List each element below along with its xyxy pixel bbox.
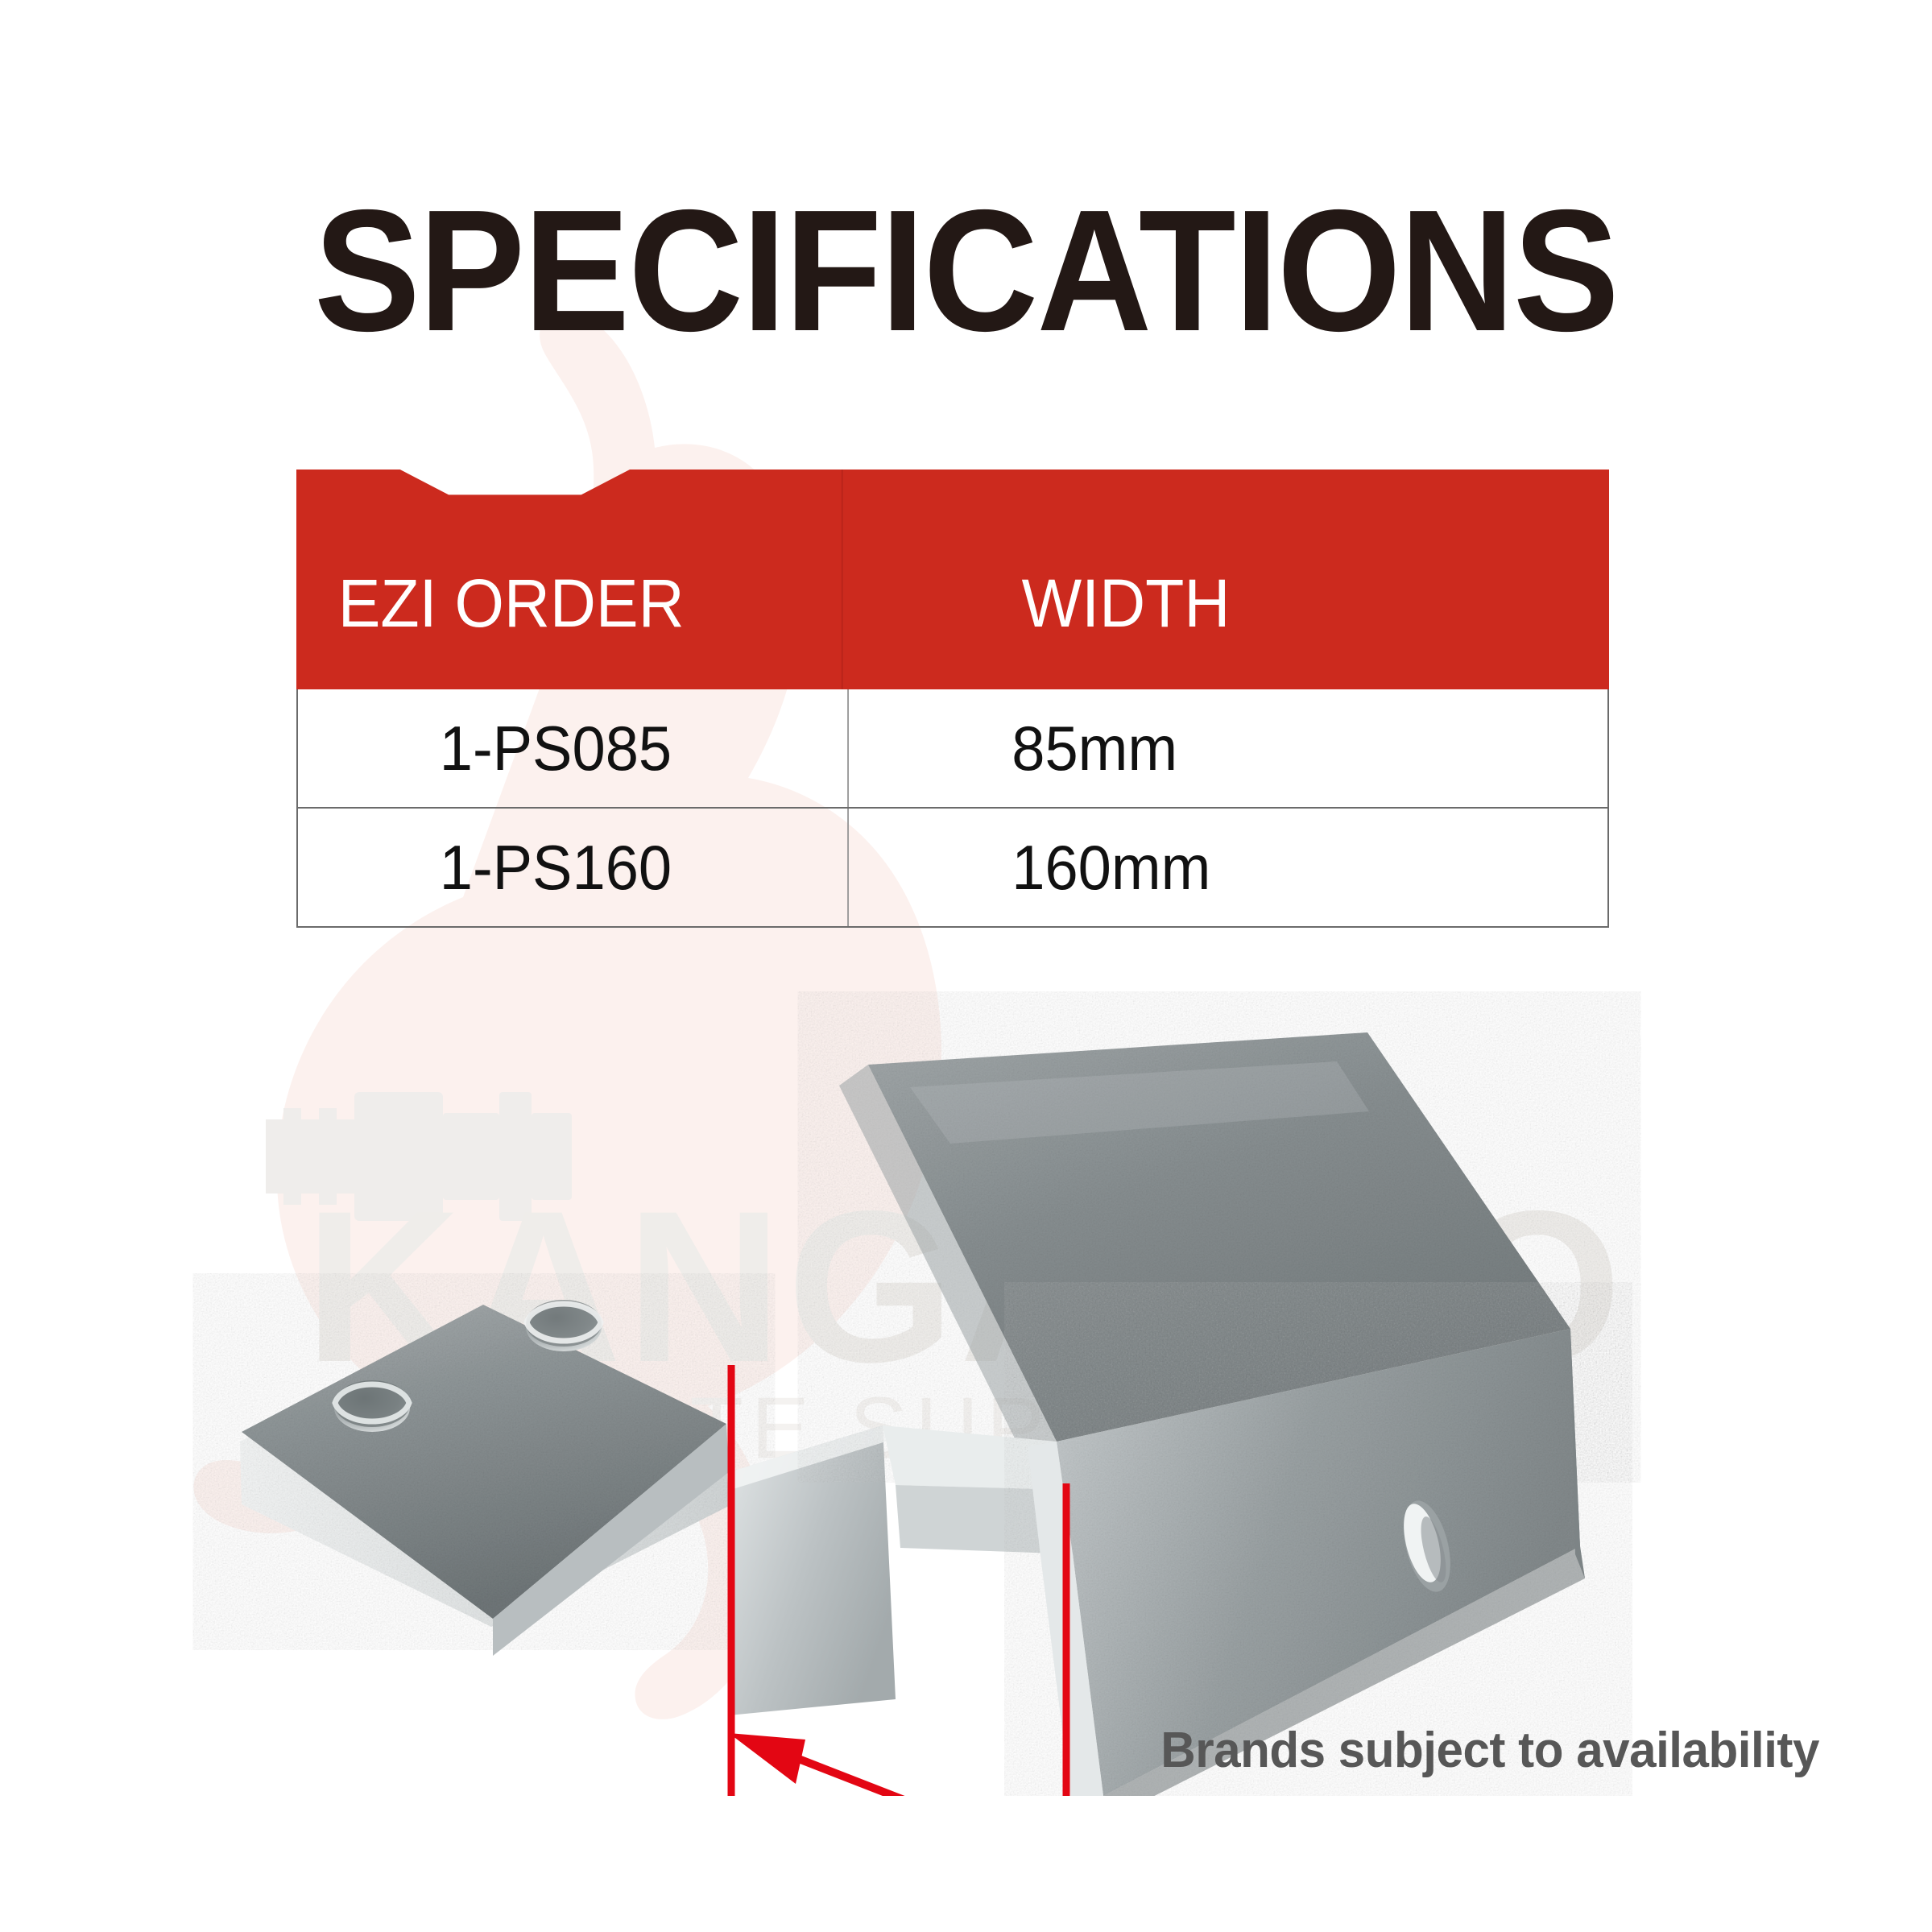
table-row: 1-PS085 85mm bbox=[298, 689, 1607, 807]
product-photo: width bbox=[0, 991, 1932, 1796]
table-body: 1-PS085 85mm 1-PS160 160mm bbox=[296, 689, 1609, 928]
availability-note: Brands subject to availability bbox=[1160, 1722, 1819, 1779]
specification-page: KANGAROO SITE SUPPLIES SPECIFICATIONS EZ… bbox=[0, 0, 1932, 1932]
column-header-ezi-order: EZI ORDER bbox=[296, 470, 843, 689]
left-base-plate bbox=[240, 1300, 729, 1627]
cell-width: 85mm bbox=[878, 689, 1571, 807]
cell-ezi-order: 1-PS085 bbox=[298, 689, 849, 807]
mounting-hole bbox=[334, 1380, 410, 1432]
table-header-row: EZI ORDER WIDTH bbox=[296, 470, 1609, 689]
cell-ezi-order: 1-PS160 bbox=[298, 809, 849, 926]
table-row: 1-PS160 160mm bbox=[298, 807, 1607, 926]
dimension-arrow-left bbox=[729, 1733, 805, 1784]
channel-inner-wall bbox=[729, 1425, 896, 1715]
mounting-hole bbox=[526, 1300, 602, 1351]
cell-width: 160mm bbox=[878, 809, 1571, 926]
dimension-label: width bbox=[766, 1790, 1051, 1796]
specifications-table: EZI ORDER WIDTH 1-PS085 85mm 1-PS160 160… bbox=[296, 470, 1609, 928]
column-header-width: WIDTH bbox=[878, 470, 1566, 689]
page-title: SPECIFICATIONS bbox=[77, 184, 1855, 357]
